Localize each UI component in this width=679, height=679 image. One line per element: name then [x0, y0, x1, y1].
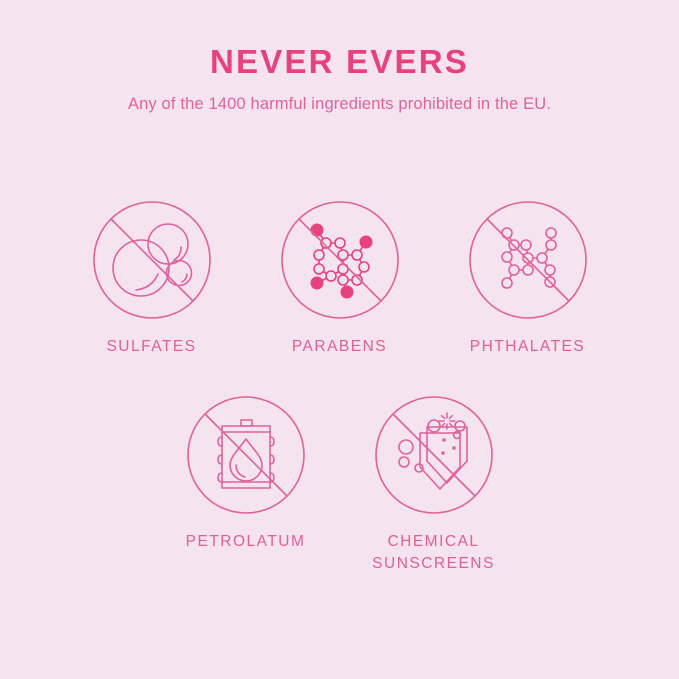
no-sulfates-bubbles-icon [90, 198, 214, 322]
icon-cell-phthalates: PHTHALATES [434, 198, 622, 358]
no-petrolatum-barrel-icon [184, 393, 308, 517]
icon-label-parabens: PARABENS [292, 336, 387, 358]
icon-cell-chemical-sunscreens: CHEMICAL SUNSCREENS [340, 393, 528, 575]
icon-label-petrolatum: PETROLATUM [186, 531, 306, 553]
icon-row-top: SULFATES [0, 198, 679, 358]
no-phthalates-molecule-icon [466, 198, 590, 322]
page-title: NEVER EVERS [0, 44, 679, 80]
icon-label-phthalates: PHTHALATES [470, 336, 586, 358]
icon-cell-parabens: PARABENS [246, 198, 434, 358]
no-chemical-sunscreens-shield-icon [372, 393, 496, 517]
no-parabens-molecule-icon [278, 198, 402, 322]
header: NEVER EVERS Any of the 1400 harmful ingr… [0, 44, 679, 116]
page-subtitle: Any of the 1400 harmful ingredients proh… [0, 94, 679, 115]
icon-cell-petrolatum: PETROLATUM [152, 393, 340, 575]
icon-label-sulfates: SULFATES [106, 336, 196, 358]
icon-cell-sulfates: SULFATES [58, 198, 246, 358]
icon-row-bottom: PETROLATUM [0, 393, 679, 575]
never-evers-infographic: NEVER EVERS Any of the 1400 harmful ingr… [0, 0, 679, 679]
icon-label-chemical-sunscreens: CHEMICAL SUNSCREENS [372, 531, 495, 575]
